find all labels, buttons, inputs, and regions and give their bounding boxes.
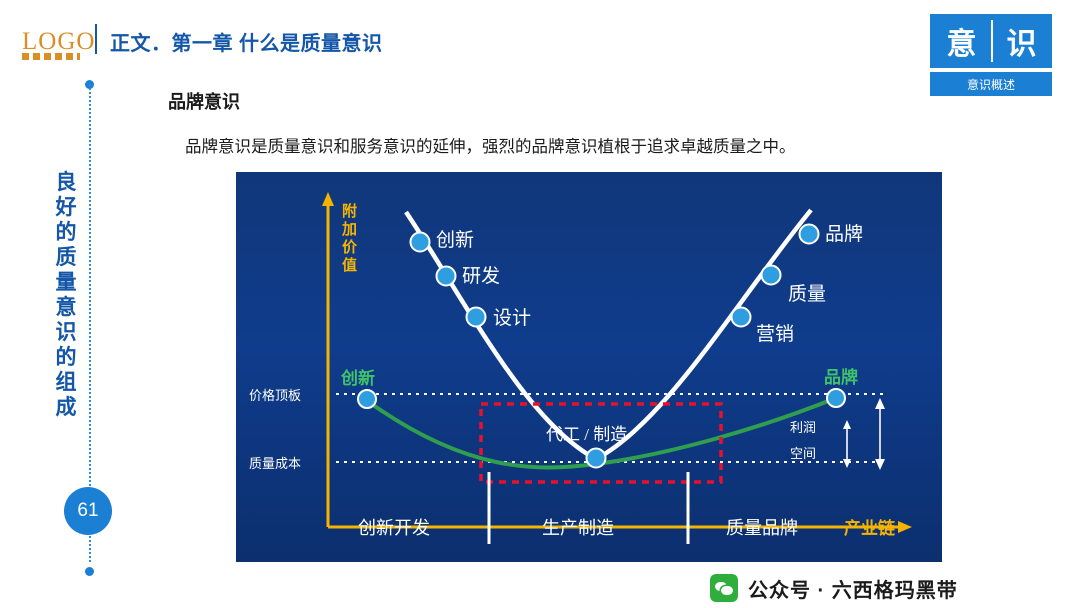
label-design: 设计 <box>493 307 531 329</box>
label-brand: 品牌 <box>825 223 863 245</box>
y-axis-label-char-3: 价 <box>342 239 358 256</box>
label-innovation: 创新 <box>436 229 474 251</box>
marker-band-brand <box>827 389 845 407</box>
marker-design <box>467 308 486 327</box>
badge-char-1: 意 <box>932 16 991 66</box>
label-band-innovation: 创新 <box>340 368 375 388</box>
logo-bars-icon <box>22 53 80 60</box>
marker-brand <box>800 225 819 244</box>
wechat-icon <box>710 574 738 602</box>
label-oem-manufacturing: 代工 / 制造 <box>546 425 627 444</box>
profit-arrow-outer-head-up <box>875 398 885 409</box>
gridline-label-quality-cost: 质量成本 <box>249 456 301 471</box>
x-category-1: 创新开发 <box>358 518 430 538</box>
label-marketing: 营销 <box>756 323 794 345</box>
marker-innovation <box>411 233 430 252</box>
section-heading: 品牌意识 <box>168 88 240 114</box>
marker-rnd <box>437 267 456 286</box>
profit-arrow-outer-head-down <box>875 459 885 470</box>
smile-curve-chart: 附 加 价 值 产业链 价格顶板 质量成本 创新 研发 设 <box>236 172 942 562</box>
watermark: 公众号 · 六西格玛黑带 <box>700 568 1080 608</box>
badge-char-2: 识 <box>992 16 1051 66</box>
annotation-space: 空间 <box>790 446 816 461</box>
marker-marketing <box>732 308 751 327</box>
x-axis-label: 产业链 <box>844 518 896 538</box>
gridline-label-price-ceiling: 价格顶板 <box>249 388 301 403</box>
profit-arrow-inner-head-up <box>843 420 851 429</box>
y-axis-label-char-1: 附 <box>342 202 357 220</box>
y-axis-arrow <box>322 192 334 206</box>
header-divider <box>95 24 97 54</box>
marker-band-innovation <box>358 390 376 408</box>
sidebar-vertical-label: 良好的质量意识的组成 <box>49 170 83 420</box>
x-category-3: 质量品牌 <box>726 518 798 538</box>
marker-quality <box>762 266 781 285</box>
annotation-profit: 利润 <box>790 420 816 435</box>
chart-svg: 附 加 价 值 产业链 价格顶板 质量成本 创新 研发 设 <box>236 172 942 562</box>
rail-dot-bottom <box>85 567 94 576</box>
y-axis-label-char-4: 值 <box>342 256 357 274</box>
chapter-badge: 意 识 <box>930 14 1052 68</box>
watermark-text: 公众号 · 六西格玛黑带 <box>748 574 958 603</box>
x-category-2: 生产制造 <box>542 518 614 538</box>
page-number-badge: 61 <box>64 487 112 535</box>
label-quality: 质量 <box>788 283 826 305</box>
body-paragraph: 品牌意识是质量意识和服务意识的延伸，强烈的品牌意识植根于追求卓越质量之中。 <box>185 133 796 157</box>
profit-arrow-inner-head-down <box>843 459 851 468</box>
marker-oem-manufacturing <box>587 449 606 468</box>
y-axis-label-char-2: 加 <box>341 221 357 238</box>
logo-text: LOGO <box>22 28 95 56</box>
label-band-brand: 品牌 <box>824 367 858 387</box>
badge-subtitle: 意识概述 <box>930 72 1052 96</box>
page-header: LOGO 正文．第一章 什么是质量意识 <box>0 0 1080 72</box>
label-rnd: 研发 <box>462 265 500 287</box>
page-title: 正文．第一章 什么是质量意识 <box>110 27 383 56</box>
x-axis-arrow <box>898 521 912 533</box>
